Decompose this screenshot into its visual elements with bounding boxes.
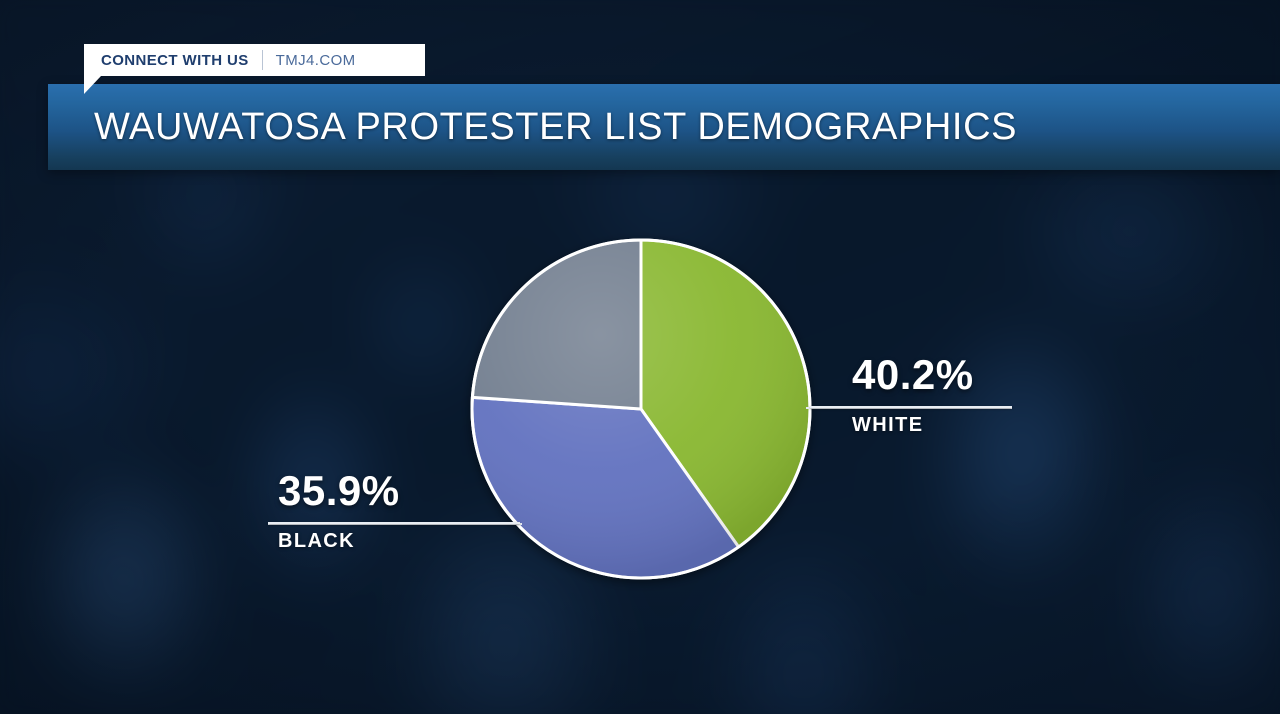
callout-black-category: BLACK <box>268 531 520 551</box>
callout-black-percent: 35.9% <box>268 470 520 512</box>
connect-with-us-banner: CONNECT WITH US TMJ4.COM <box>84 44 425 76</box>
callout-white-rule <box>810 406 1012 408</box>
pie-gloss-overlay <box>472 240 810 578</box>
callout-white-percent: 40.2% <box>810 354 1012 396</box>
callout-black-rule <box>268 522 520 524</box>
infographic-stage: CONNECT WITH US TMJ4.COM WAUWATOSA PROTE… <box>0 0 1280 714</box>
banner-divider <box>262 50 263 70</box>
callout-white: 40.2% WHITE <box>810 354 1012 435</box>
connect-with-us-label: CONNECT WITH US <box>101 52 249 69</box>
callout-black: 35.9% BLACK <box>268 470 520 551</box>
page-title: WAUWATOSA PROTESTER LIST DEMOGRAPHICS <box>94 106 1017 149</box>
title-bar: WAUWATOSA PROTESTER LIST DEMOGRAPHICS <box>48 84 1280 170</box>
tmj4-website-label: TMJ4.COM <box>276 52 356 69</box>
banner-tail-icon <box>84 76 101 94</box>
callout-white-category: WHITE <box>810 415 1012 435</box>
